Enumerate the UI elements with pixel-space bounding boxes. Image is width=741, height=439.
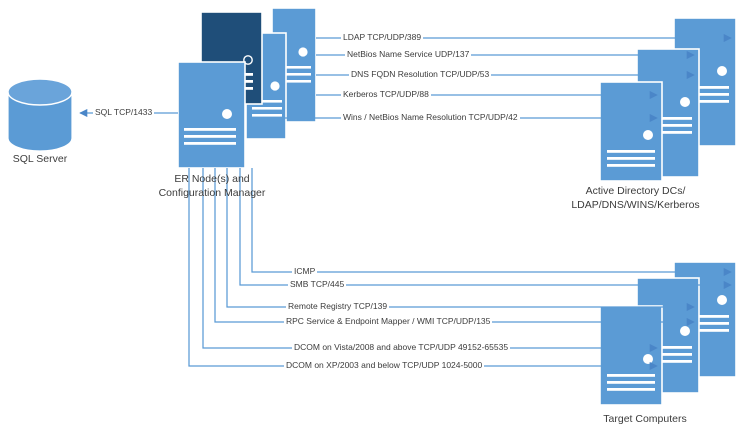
diagram-graphics [0, 0, 741, 439]
target-computers-shape [600, 262, 736, 405]
node-label-er-node-line1: ER Node(s) and [142, 172, 282, 186]
connector-label-dns-fqdn: DNS FQDN Resolution TCP/UDP/53 [349, 69, 491, 80]
node-label-er-node-line2: Configuration Manager [142, 186, 282, 200]
node-label-active-directory-line1: Active Directory DCs/ [533, 184, 738, 198]
connector-label-dcom-xp: DCOM on XP/2003 and below TCP/UDP 1024-5… [284, 360, 484, 371]
connector-label-wins-netbios: Wins / NetBios Name Resolution TCP/UDP/4… [341, 112, 520, 123]
connector-label-dcom-vista: DCOM on Vista/2008 and above TCP/UDP 491… [292, 342, 510, 353]
connector-label-kerberos: Kerberos TCP/UDP/88 [341, 89, 431, 100]
node-label-active-directory-line2: LDAP/DNS/WINS/Kerberos [533, 198, 738, 212]
connector-label-icmp: ICMP [292, 266, 317, 277]
node-label-active-directory: Active Directory DCs/ LDAP/DNS/WINS/Kerb… [533, 184, 738, 212]
network-diagram-canvas: SQL TCP/1433 LDAP TCP/UDP/389 NetBios Na… [0, 0, 741, 439]
connector-label-remote-registry: Remote Registry TCP/139 [286, 301, 389, 312]
active-directory-shape [600, 18, 736, 181]
node-label-sql-server: SQL Server [0, 152, 80, 166]
er-node-shape [178, 8, 316, 168]
connector-label-sql: SQL TCP/1433 [93, 107, 154, 118]
connector-label-ldap: LDAP TCP/UDP/389 [341, 32, 423, 43]
connector-label-rpc-wmi: RPC Service & Endpoint Mapper / WMI TCP/… [284, 316, 492, 327]
node-label-target-computers: Target Computers [565, 412, 725, 426]
connector-label-smb: SMB TCP/445 [288, 279, 346, 290]
sql-server-shape [8, 79, 72, 151]
connector-label-netbios-name-svc: NetBios Name Service UDP/137 [345, 49, 471, 60]
node-label-er-node: ER Node(s) and Configuration Manager [142, 172, 282, 200]
